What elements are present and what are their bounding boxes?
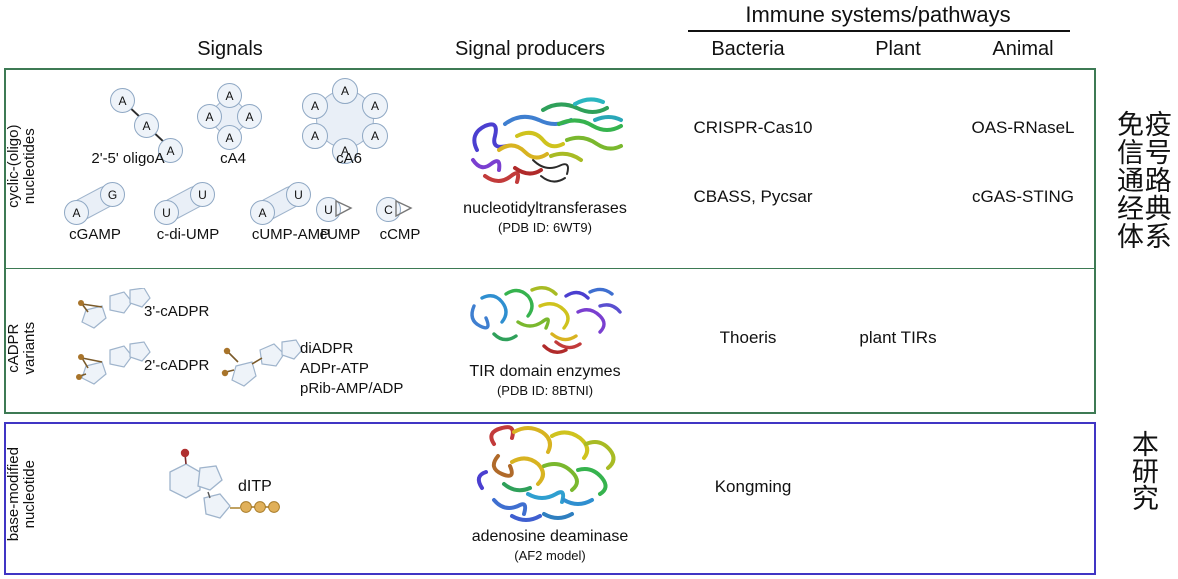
chinese-label-this-study-text: 本研究: [1128, 430, 1156, 511]
signal-label-cCMP: cCMP: [360, 226, 440, 243]
cA4-unit-left: A: [197, 104, 222, 129]
producer-pdb-tir-domain-enzymes: (PDB ID: 8BTNI): [430, 383, 660, 398]
row-label-line-2: nucleotides: [22, 106, 38, 226]
row-label-line-1: base-modified: [6, 436, 22, 552]
column-header-plant: Plant: [838, 38, 958, 61]
row-label-line-1: cADPR: [6, 293, 22, 403]
cUMP-AMP-unit-U: U: [286, 182, 311, 207]
signal-cUMP: U: [314, 196, 364, 226]
row-label-line-2: variants: [22, 293, 38, 403]
signal-label-cA4: cA4: [178, 150, 288, 167]
signal-label-diADPR: diADPR: [300, 340, 460, 357]
immune-entry-plant-tirs: plant TIRs: [828, 328, 968, 348]
cA4-unit-bottom: A: [217, 125, 242, 150]
row-label-cadpr-variants: cADPR variants: [6, 293, 38, 403]
producer-name-tir-domain-enzymes: TIR domain enzymes: [430, 363, 660, 381]
producer-name-adenosine-deaminase: adenosine deaminase: [430, 528, 670, 546]
cA4-unit-right: A: [237, 104, 262, 129]
immune-entry-bacteria-kongming: Kongming: [668, 477, 838, 497]
producer-pdb-nucleotidyltransferases: (PDB ID: 6WT9): [430, 220, 660, 235]
signal-cGAMP: A G: [62, 182, 142, 222]
oligoA-unit-1: A: [110, 88, 135, 113]
signal-label-3prime-cADPR: 3'-cADPR: [144, 303, 264, 320]
row-label-line-1: cyclic-(oligo): [6, 106, 22, 226]
protein-structure-adenosine-deaminase: [468, 422, 634, 530]
row-label-line-2: nucleotide: [22, 436, 38, 552]
column-header-signal-producers: Signal producers: [430, 38, 630, 61]
column-header-animal: Animal: [958, 38, 1088, 61]
immune-entry-animal-cgas-sting: cGAS-STING: [948, 187, 1098, 207]
chinese-label-classic-col2: 疫号路典系: [1141, 110, 1169, 250]
producer-name-nucleotidyltransferases: nucleotidyltransferases: [430, 200, 660, 218]
chinese-label-classic-col1: 免信通经体: [1113, 110, 1141, 250]
column-header-bacteria: Bacteria: [668, 38, 828, 61]
producer-pdb-adenosine-deaminase: (AF2 model): [430, 548, 670, 563]
c-di-UMP-unit-2: U: [190, 182, 215, 207]
signal-c-di-UMP: U U: [152, 182, 232, 222]
cA6-unit-3: A: [362, 123, 388, 149]
row-divider: [6, 268, 1094, 269]
immune-group-underline: [688, 30, 1070, 32]
immune-entry-animal-oas-rnasel: OAS-RNaseL: [948, 118, 1098, 138]
cA6-unit-5: A: [302, 123, 328, 149]
cGAMP-unit-A: A: [64, 200, 89, 225]
signal-cCMP: C: [374, 196, 424, 226]
signal-label-cA6: cA6: [294, 150, 404, 167]
immune-systems-group-title: Immune systems/pathways: [668, 2, 1088, 28]
immune-entry-bacteria-thoeris: Thoeris: [668, 328, 828, 348]
chinese-label-classic-systems: 免信通经体 疫号路典系: [1108, 110, 1174, 250]
signal-label-oligoA: 2'-5' oligoA: [58, 150, 198, 167]
row-label-base-modified-nucleotide: base-modified nucleotide: [6, 436, 38, 552]
cA6-unit-1: A: [332, 78, 358, 104]
column-header-signals: Signals: [130, 38, 330, 61]
row-label-cyclic-oligo-nucleotides: cyclic-(oligo) nucleotides: [6, 106, 38, 226]
cA6-unit-2: A: [362, 93, 388, 119]
cGAMP-unit-G: G: [100, 182, 125, 207]
cA6-unit-6: A: [302, 93, 328, 119]
signal-label-dITP: dITP: [238, 478, 318, 496]
protein-structure-tir-domain-enzymes: [460, 272, 630, 358]
protein-structure-nucleotidyltransferases: [455, 90, 635, 195]
cUMP-cyclic-arrow: [335, 198, 357, 220]
cUMP-AMP-unit-A: A: [250, 200, 275, 225]
cCMP-cyclic-arrow: [395, 198, 417, 220]
signal-structure-diADPR-cluster: [216, 338, 312, 392]
oligoA-unit-2: A: [134, 113, 159, 138]
c-di-UMP-unit-1: U: [154, 200, 179, 225]
chinese-label-this-study: 本研究: [1120, 430, 1164, 517]
cA4-unit-top: A: [217, 83, 242, 108]
immune-entry-bacteria-cbass-pycsar: CBASS, Pycsar: [668, 187, 838, 207]
immune-entry-bacteria-crispr-cas10: CRISPR-Cas10: [668, 118, 838, 138]
